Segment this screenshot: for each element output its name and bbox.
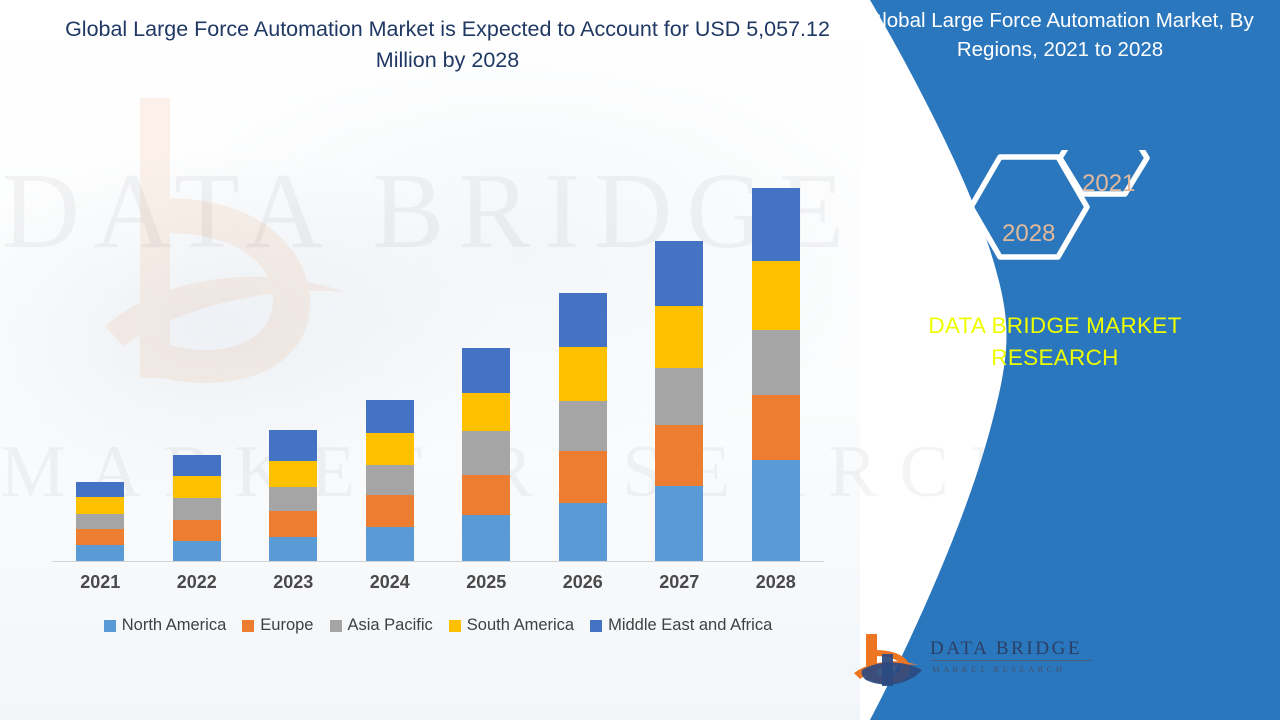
legend-item[interactable]: Asia Pacific [330,616,433,635]
bar-segment[interactable] [366,495,414,527]
hexagon-2021-label: 2021 [1082,170,1135,198]
bar-slot-2028 [728,101,825,561]
legend-swatch-icon [242,620,254,632]
bar-segment[interactable] [173,455,221,476]
panel-content: Global Large Force Automation Market, By… [830,0,1280,720]
bar-segment[interactable] [173,541,221,561]
x-axis-tick-2023: 2023 [245,572,342,593]
x-axis-tick-2022: 2022 [149,572,246,593]
bar-segment[interactable] [655,241,703,306]
x-axis-tick-2026: 2026 [535,572,632,593]
bar-segment[interactable] [462,475,510,515]
x-axis-tick-2028: 2028 [728,572,825,593]
bar-segment[interactable] [559,401,607,451]
brand-line-2: RESEARCH [855,342,1255,374]
infographic-canvas: DATA BRIDGE MARKET RESEARCH Global Large… [0,0,1280,720]
legend-label: South America [467,616,574,635]
x-axis-tick-2021: 2021 [52,572,149,593]
chart-plot-area [52,100,824,562]
bar-segment[interactable] [269,461,317,487]
bar-segment[interactable] [655,486,703,561]
bar-segment[interactable] [655,306,703,368]
hexagon-2028-label: 2028 [1002,220,1055,248]
legend-swatch-icon [104,620,116,632]
bar-slot-2024 [342,101,439,561]
bar-group [52,101,824,561]
stacked-bar[interactable] [655,241,703,561]
bar-segment[interactable] [76,529,124,545]
bar-segment[interactable] [655,425,703,486]
legend-swatch-icon [330,620,342,632]
legend-item[interactable]: Middle East and Africa [590,616,772,635]
x-axis-tick-2024: 2024 [342,572,439,593]
legend-label: Europe [260,616,313,635]
logo-name: DATA BRIDGE [930,638,1082,660]
legend-label: Middle East and Africa [608,616,772,635]
x-axis-labels: 20212022202320242025202620272028 [52,572,824,593]
bar-segment[interactable] [559,347,607,401]
bar-segment[interactable] [173,520,221,541]
bar-segment[interactable] [269,430,317,461]
bar-slot-2027 [631,101,728,561]
bar-segment[interactable] [655,368,703,425]
bar-segment[interactable] [752,460,800,561]
bar-segment[interactable] [76,545,124,561]
bar-segment[interactable] [462,515,510,561]
company-logo: DATA BRIDGE MARKET RESEARCH [852,630,1102,696]
x-axis-tick-2027: 2027 [631,572,728,593]
bar-segment[interactable] [269,487,317,511]
legend-label: North America [122,616,227,635]
x-axis-line [52,561,824,562]
stacked-bar[interactable] [76,482,124,561]
bar-segment[interactable] [752,261,800,330]
legend-item[interactable]: Europe [242,616,313,635]
brand-name: DATA BRIDGE MARKET RESEARCH [855,310,1255,374]
bar-segment[interactable] [752,188,800,261]
bar-segment[interactable] [269,511,317,537]
stacked-bar[interactable] [269,430,317,561]
bar-segment[interactable] [366,400,414,433]
panel-title: Global Large Force Automation Market, By… [860,6,1260,64]
x-axis-tick-2025: 2025 [438,572,535,593]
hexagon-group-icon [830,150,1280,280]
legend-swatch-icon [590,620,602,632]
bar-slot-2026 [535,101,632,561]
chart-legend: North AmericaEuropeAsia PacificSouth Ame… [52,616,824,635]
bar-segment[interactable] [752,330,800,395]
bar-segment[interactable] [462,393,510,431]
legend-item[interactable]: North America [104,616,227,635]
legend-swatch-icon [449,620,461,632]
bar-segment[interactable] [559,293,607,347]
brand-line-1: DATA BRIDGE MARKET [855,310,1255,342]
stacked-bar[interactable] [462,348,510,561]
logo-divider [931,660,1091,661]
brand-panel: Global Large Force Automation Market, By… [830,0,1280,720]
chart-title: Global Large Force Automation Market is … [60,14,835,75]
bar-segment[interactable] [173,498,221,520]
logo-mark-icon [852,630,924,692]
legend-label: Asia Pacific [348,616,433,635]
stacked-bar[interactable] [752,188,800,561]
bar-segment[interactable] [76,482,124,497]
bar-segment[interactable] [366,527,414,561]
legend-item[interactable]: South America [449,616,574,635]
bar-segment[interactable] [173,476,221,498]
bar-segment[interactable] [366,465,414,495]
bar-slot-2022 [149,101,246,561]
stacked-bar[interactable] [173,455,221,561]
bar-segment[interactable] [752,395,800,460]
bar-slot-2025 [438,101,535,561]
stacked-bar[interactable] [559,293,607,561]
bar-segment[interactable] [76,497,124,514]
bar-segment[interactable] [559,451,607,503]
bar-segment[interactable] [76,514,124,529]
bar-segment[interactable] [366,433,414,465]
bar-segment[interactable] [559,503,607,561]
bar-slot-2021 [52,101,149,561]
stacked-bar[interactable] [366,400,414,561]
bar-segment[interactable] [462,348,510,393]
bar-segment[interactable] [462,431,510,475]
bar-segment[interactable] [269,537,317,561]
bar-slot-2023 [245,101,342,561]
logo-tagline: MARKET RESEARCH [932,664,1065,674]
